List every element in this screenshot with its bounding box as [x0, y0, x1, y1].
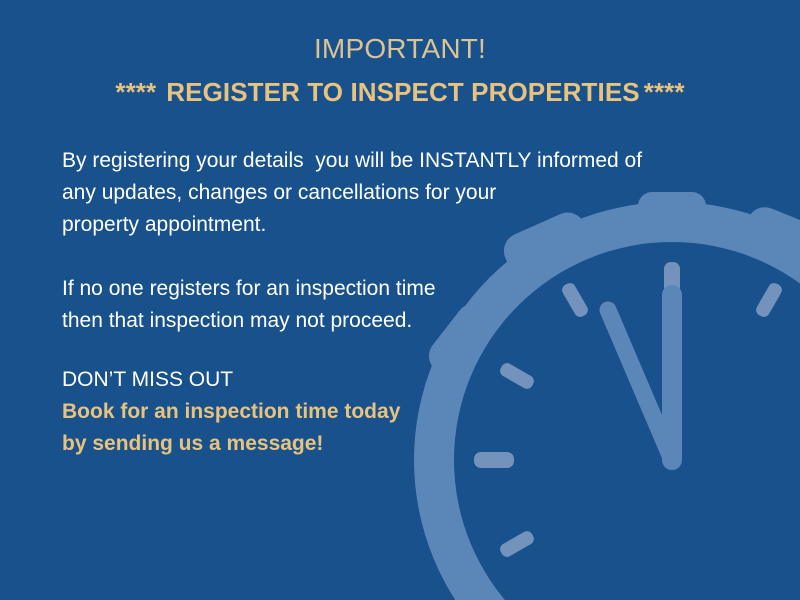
headline-secondary-text: REGISTER TO INSPECT PROPERTIES [166, 77, 640, 107]
paragraph2-line1: If no one registers for an inspection ti… [62, 273, 722, 305]
slide-content: IMPORTANT! ****REGISTER TO INSPECT PROPE… [0, 0, 800, 600]
stars-left: **** [115, 77, 156, 107]
cta-dont-miss-out: DON’T MISS OUT [62, 364, 400, 396]
paragraph1-line2: any updates, changes or cancellations fo… [62, 177, 722, 209]
paragraph1-line3: property appointment. [62, 209, 722, 241]
paragraph-registering-details: By registering your details you will be … [62, 145, 722, 241]
body-block: By registering your details you will be … [62, 145, 722, 337]
paragraph1-line1: By registering your details you will be … [62, 145, 722, 177]
headline-block: IMPORTANT! ****REGISTER TO INSPECT PROPE… [0, 30, 800, 112]
paragraph2-line2: then that inspection may not proceed. [62, 305, 722, 337]
stars-right: **** [644, 77, 685, 107]
slide-canvas: IMPORTANT! ****REGISTER TO INSPECT PROPE… [0, 0, 800, 600]
call-to-action-block: DON’T MISS OUT Book for an inspection ti… [62, 364, 400, 460]
headline-primary: IMPORTANT! [0, 30, 800, 68]
headline-secondary: ****REGISTER TO INSPECT PROPERTIES**** [0, 72, 800, 112]
paragraph-no-registration: If no one registers for an inspection ti… [62, 273, 722, 337]
cta-book-inspection: Book for an inspection time today [62, 396, 400, 428]
cta-send-message: by sending us a message! [62, 428, 400, 460]
